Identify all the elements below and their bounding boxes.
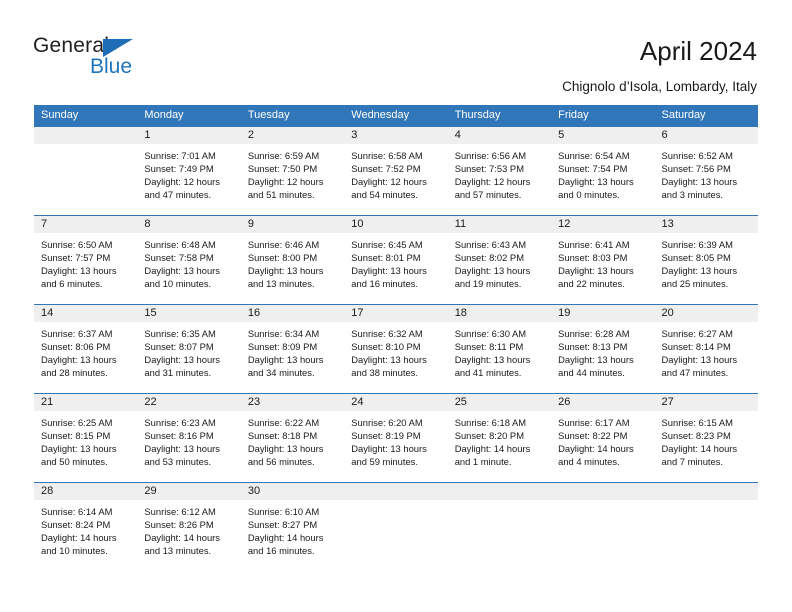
sunset-text: Sunset: 8:18 PM [248, 429, 338, 442]
daylight-text-line1: Daylight: 12 hours [144, 175, 234, 188]
sunset-text: Sunset: 8:13 PM [558, 340, 648, 353]
sunrise-text: Sunrise: 6:50 AM [41, 238, 131, 251]
sunset-text: Sunset: 7:56 PM [662, 162, 752, 175]
day-cell: 4 Sunrise: 6:56 AM Sunset: 7:53 PM Dayli… [448, 127, 551, 215]
daylight-text-line1: Daylight: 13 hours [144, 353, 234, 366]
daylight-text-line1: Daylight: 13 hours [662, 264, 752, 277]
calendar-grid: Sunday Monday Tuesday Wednesday Thursday… [34, 105, 758, 571]
calendar-week-row: 1 Sunrise: 7:01 AM Sunset: 7:49 PM Dayli… [34, 126, 758, 215]
weekday-header-thursday: Thursday [448, 105, 551, 126]
sunset-text: Sunset: 7:54 PM [558, 162, 648, 175]
day-cell: 11 Sunrise: 6:43 AM Sunset: 8:02 PM Dayl… [448, 216, 551, 304]
day-cell: 18 Sunrise: 6:30 AM Sunset: 8:11 PM Dayl… [448, 305, 551, 393]
day-number [655, 483, 758, 500]
daylight-text-line1: Daylight: 13 hours [248, 264, 338, 277]
day-cell: 12 Sunrise: 6:41 AM Sunset: 8:03 PM Dayl… [551, 216, 654, 304]
daylight-text-line2: and 57 minutes. [455, 188, 545, 201]
sunset-text: Sunset: 8:01 PM [351, 251, 441, 264]
daylight-text-line2: and 13 minutes. [144, 544, 234, 557]
sunset-text: Sunset: 8:09 PM [248, 340, 338, 353]
day-number: 5 [551, 127, 654, 144]
daylight-text-line2: and 16 minutes. [248, 544, 338, 557]
day-number: 21 [34, 394, 137, 411]
day-cell: 19 Sunrise: 6:28 AM Sunset: 8:13 PM Dayl… [551, 305, 654, 393]
day-details: Sunrise: 6:58 AM Sunset: 7:52 PM Dayligh… [344, 144, 447, 201]
day-details: Sunrise: 6:46 AM Sunset: 8:00 PM Dayligh… [241, 233, 344, 290]
day-number [344, 483, 447, 500]
daylight-text-line2: and 22 minutes. [558, 277, 648, 290]
daylight-text-line2: and 47 minutes. [144, 188, 234, 201]
sunset-text: Sunset: 8:14 PM [662, 340, 752, 353]
day-details: Sunrise: 6:14 AM Sunset: 8:24 PM Dayligh… [34, 500, 137, 557]
day-number: 15 [137, 305, 240, 322]
day-cell: 27 Sunrise: 6:15 AM Sunset: 8:23 PM Dayl… [655, 394, 758, 482]
day-cell [34, 127, 137, 215]
daylight-text-line1: Daylight: 13 hours [41, 353, 131, 366]
day-details: Sunrise: 6:37 AM Sunset: 8:06 PM Dayligh… [34, 322, 137, 379]
sunrise-text: Sunrise: 6:48 AM [144, 238, 234, 251]
day-details [34, 144, 137, 149]
daylight-text-line1: Daylight: 13 hours [144, 442, 234, 455]
daylight-text-line1: Daylight: 13 hours [662, 175, 752, 188]
daylight-text-line1: Daylight: 13 hours [558, 264, 648, 277]
daylight-text-line2: and 56 minutes. [248, 455, 338, 468]
sunset-text: Sunset: 7:49 PM [144, 162, 234, 175]
sunrise-text: Sunrise: 6:17 AM [558, 416, 648, 429]
page-header: General Blue April 2024 Chignolo d’Isola… [0, 0, 792, 100]
day-number: 14 [34, 305, 137, 322]
daylight-text-line2: and 53 minutes. [144, 455, 234, 468]
day-number: 17 [344, 305, 447, 322]
day-number: 12 [551, 216, 654, 233]
day-cell: 30 Sunrise: 6:10 AM Sunset: 8:27 PM Dayl… [241, 483, 344, 571]
sunrise-text: Sunrise: 7:01 AM [144, 149, 234, 162]
sunset-text: Sunset: 8:23 PM [662, 429, 752, 442]
daylight-text-line2: and 34 minutes. [248, 366, 338, 379]
sunset-text: Sunset: 8:22 PM [558, 429, 648, 442]
day-details: Sunrise: 6:12 AM Sunset: 8:26 PM Dayligh… [137, 500, 240, 557]
daylight-text-line2: and 19 minutes. [455, 277, 545, 290]
day-cell: 10 Sunrise: 6:45 AM Sunset: 8:01 PM Dayl… [344, 216, 447, 304]
sunset-text: Sunset: 8:11 PM [455, 340, 545, 353]
day-cell: 5 Sunrise: 6:54 AM Sunset: 7:54 PM Dayli… [551, 127, 654, 215]
day-number: 3 [344, 127, 447, 144]
sunset-text: Sunset: 7:57 PM [41, 251, 131, 264]
day-details: Sunrise: 6:27 AM Sunset: 8:14 PM Dayligh… [655, 322, 758, 379]
day-number: 20 [655, 305, 758, 322]
sunrise-text: Sunrise: 6:28 AM [558, 327, 648, 340]
sunrise-text: Sunrise: 6:46 AM [248, 238, 338, 251]
day-details: Sunrise: 6:52 AM Sunset: 7:56 PM Dayligh… [655, 144, 758, 201]
daylight-text-line2: and 38 minutes. [351, 366, 441, 379]
day-number: 9 [241, 216, 344, 233]
day-number: 25 [448, 394, 551, 411]
day-details: Sunrise: 6:48 AM Sunset: 7:58 PM Dayligh… [137, 233, 240, 290]
daylight-text-line2: and 25 minutes. [662, 277, 752, 290]
sunset-text: Sunset: 8:26 PM [144, 518, 234, 531]
daylight-text-line2: and 0 minutes. [558, 188, 648, 201]
weekday-header-saturday: Saturday [655, 105, 758, 126]
sunrise-text: Sunrise: 6:25 AM [41, 416, 131, 429]
daylight-text-line1: Daylight: 12 hours [455, 175, 545, 188]
day-cell: 7 Sunrise: 6:50 AM Sunset: 7:57 PM Dayli… [34, 216, 137, 304]
daylight-text-line1: Daylight: 13 hours [351, 264, 441, 277]
day-cell: 22 Sunrise: 6:23 AM Sunset: 8:16 PM Dayl… [137, 394, 240, 482]
daylight-text-line1: Daylight: 13 hours [144, 264, 234, 277]
sunrise-text: Sunrise: 6:58 AM [351, 149, 441, 162]
day-cell: 16 Sunrise: 6:34 AM Sunset: 8:09 PM Dayl… [241, 305, 344, 393]
day-number: 16 [241, 305, 344, 322]
day-cell: 21 Sunrise: 6:25 AM Sunset: 8:15 PM Dayl… [34, 394, 137, 482]
day-number: 30 [241, 483, 344, 500]
sunrise-text: Sunrise: 6:30 AM [455, 327, 545, 340]
day-cell [344, 483, 447, 571]
day-number: 24 [344, 394, 447, 411]
page-title: April 2024 [640, 36, 757, 67]
daylight-text-line1: Daylight: 13 hours [558, 175, 648, 188]
daylight-text-line2: and 51 minutes. [248, 188, 338, 201]
daylight-text-line2: and 3 minutes. [662, 188, 752, 201]
day-details: Sunrise: 6:43 AM Sunset: 8:02 PM Dayligh… [448, 233, 551, 290]
daylight-text-line1: Daylight: 13 hours [351, 442, 441, 455]
daylight-text-line1: Daylight: 14 hours [558, 442, 648, 455]
daylight-text-line1: Daylight: 13 hours [248, 442, 338, 455]
daylight-text-line1: Daylight: 14 hours [144, 531, 234, 544]
day-details: Sunrise: 6:22 AM Sunset: 8:18 PM Dayligh… [241, 411, 344, 468]
day-details: Sunrise: 6:20 AM Sunset: 8:19 PM Dayligh… [344, 411, 447, 468]
day-details: Sunrise: 6:34 AM Sunset: 8:09 PM Dayligh… [241, 322, 344, 379]
daylight-text-line2: and 31 minutes. [144, 366, 234, 379]
day-details: Sunrise: 6:54 AM Sunset: 7:54 PM Dayligh… [551, 144, 654, 201]
sunrise-text: Sunrise: 6:12 AM [144, 505, 234, 518]
sunset-text: Sunset: 8:00 PM [248, 251, 338, 264]
sunset-text: Sunset: 7:50 PM [248, 162, 338, 175]
daylight-text-line1: Daylight: 13 hours [455, 353, 545, 366]
day-details: Sunrise: 6:18 AM Sunset: 8:20 PM Dayligh… [448, 411, 551, 468]
day-details [655, 500, 758, 505]
daylight-text-line1: Daylight: 14 hours [455, 442, 545, 455]
daylight-text-line1: Daylight: 13 hours [248, 353, 338, 366]
day-details [448, 500, 551, 505]
day-number: 23 [241, 394, 344, 411]
day-number: 10 [344, 216, 447, 233]
daylight-text-line2: and 10 minutes. [144, 277, 234, 290]
day-number: 7 [34, 216, 137, 233]
daylight-text-line1: Daylight: 13 hours [351, 353, 441, 366]
sunset-text: Sunset: 8:16 PM [144, 429, 234, 442]
day-cell: 28 Sunrise: 6:14 AM Sunset: 8:24 PM Dayl… [34, 483, 137, 571]
sunset-text: Sunset: 8:02 PM [455, 251, 545, 264]
weekday-header-tuesday: Tuesday [241, 105, 344, 126]
day-cell: 9 Sunrise: 6:46 AM Sunset: 8:00 PM Dayli… [241, 216, 344, 304]
sunrise-text: Sunrise: 6:52 AM [662, 149, 752, 162]
sunset-text: Sunset: 8:06 PM [41, 340, 131, 353]
daylight-text-line1: Daylight: 13 hours [455, 264, 545, 277]
daylight-text-line2: and 6 minutes. [41, 277, 131, 290]
day-cell: 20 Sunrise: 6:27 AM Sunset: 8:14 PM Dayl… [655, 305, 758, 393]
calendar-week-row: 14 Sunrise: 6:37 AM Sunset: 8:06 PM Dayl… [34, 304, 758, 393]
day-cell: 17 Sunrise: 6:32 AM Sunset: 8:10 PM Dayl… [344, 305, 447, 393]
sunrise-text: Sunrise: 6:18 AM [455, 416, 545, 429]
sunrise-text: Sunrise: 6:43 AM [455, 238, 545, 251]
day-details: Sunrise: 6:10 AM Sunset: 8:27 PM Dayligh… [241, 500, 344, 557]
sunrise-text: Sunrise: 6:54 AM [558, 149, 648, 162]
weekday-header-monday: Monday [137, 105, 240, 126]
daylight-text-line2: and 47 minutes. [662, 366, 752, 379]
sunrise-text: Sunrise: 6:15 AM [662, 416, 752, 429]
sunset-text: Sunset: 8:03 PM [558, 251, 648, 264]
day-details: Sunrise: 7:01 AM Sunset: 7:49 PM Dayligh… [137, 144, 240, 201]
day-cell: 15 Sunrise: 6:35 AM Sunset: 8:07 PM Dayl… [137, 305, 240, 393]
day-number: 22 [137, 394, 240, 411]
day-details: Sunrise: 6:28 AM Sunset: 8:13 PM Dayligh… [551, 322, 654, 379]
sunrise-text: Sunrise: 6:27 AM [662, 327, 752, 340]
daylight-text-line2: and 50 minutes. [41, 455, 131, 468]
day-number [34, 127, 137, 144]
day-details: Sunrise: 6:39 AM Sunset: 8:05 PM Dayligh… [655, 233, 758, 290]
day-cell: 25 Sunrise: 6:18 AM Sunset: 8:20 PM Dayl… [448, 394, 551, 482]
sunrise-text: Sunrise: 6:22 AM [248, 416, 338, 429]
daylight-text-line1: Daylight: 13 hours [662, 353, 752, 366]
sunset-text: Sunset: 7:52 PM [351, 162, 441, 175]
day-details: Sunrise: 6:30 AM Sunset: 8:11 PM Dayligh… [448, 322, 551, 379]
day-number [551, 483, 654, 500]
daylight-text-line1: Daylight: 13 hours [41, 442, 131, 455]
daylight-text-line2: and 4 minutes. [558, 455, 648, 468]
sunset-text: Sunset: 8:19 PM [351, 429, 441, 442]
daylight-text-line1: Daylight: 14 hours [248, 531, 338, 544]
daylight-text-line2: and 16 minutes. [351, 277, 441, 290]
day-cell: 1 Sunrise: 7:01 AM Sunset: 7:49 PM Dayli… [137, 127, 240, 215]
page-subtitle-location: Chignolo d’Isola, Lombardy, Italy [562, 79, 757, 94]
day-cell: 14 Sunrise: 6:37 AM Sunset: 8:06 PM Dayl… [34, 305, 137, 393]
day-number: 4 [448, 127, 551, 144]
day-details [551, 500, 654, 505]
weekday-header-sunday: Sunday [34, 105, 137, 126]
calendar-page: General Blue April 2024 Chignolo d’Isola… [0, 0, 792, 612]
day-number: 27 [655, 394, 758, 411]
day-details: Sunrise: 6:41 AM Sunset: 8:03 PM Dayligh… [551, 233, 654, 290]
sunrise-text: Sunrise: 6:35 AM [144, 327, 234, 340]
day-details: Sunrise: 6:25 AM Sunset: 8:15 PM Dayligh… [34, 411, 137, 468]
sunrise-text: Sunrise: 6:14 AM [41, 505, 131, 518]
generalblue-logo: General Blue [33, 34, 193, 86]
daylight-text-line2: and 7 minutes. [662, 455, 752, 468]
day-number: 19 [551, 305, 654, 322]
sunset-text: Sunset: 8:07 PM [144, 340, 234, 353]
day-number: 18 [448, 305, 551, 322]
daylight-text-line1: Daylight: 12 hours [248, 175, 338, 188]
sunrise-text: Sunrise: 6:45 AM [351, 238, 441, 251]
day-details: Sunrise: 6:45 AM Sunset: 8:01 PM Dayligh… [344, 233, 447, 290]
sunset-text: Sunset: 8:05 PM [662, 251, 752, 264]
daylight-text-line2: and 41 minutes. [455, 366, 545, 379]
sunset-text: Sunset: 7:58 PM [144, 251, 234, 264]
daylight-text-line2: and 54 minutes. [351, 188, 441, 201]
day-details: Sunrise: 6:50 AM Sunset: 7:57 PM Dayligh… [34, 233, 137, 290]
daylight-text-line1: Daylight: 14 hours [662, 442, 752, 455]
daylight-text-line1: Daylight: 13 hours [558, 353, 648, 366]
day-details: Sunrise: 6:59 AM Sunset: 7:50 PM Dayligh… [241, 144, 344, 201]
day-details: Sunrise: 6:23 AM Sunset: 8:16 PM Dayligh… [137, 411, 240, 468]
sunrise-text: Sunrise: 6:34 AM [248, 327, 338, 340]
daylight-text-line2: and 13 minutes. [248, 277, 338, 290]
daylight-text-line2: and 1 minute. [455, 455, 545, 468]
sunset-text: Sunset: 8:15 PM [41, 429, 131, 442]
daylight-text-line2: and 44 minutes. [558, 366, 648, 379]
sunrise-text: Sunrise: 6:39 AM [662, 238, 752, 251]
day-cell: 8 Sunrise: 6:48 AM Sunset: 7:58 PM Dayli… [137, 216, 240, 304]
calendar-week-row: 7 Sunrise: 6:50 AM Sunset: 7:57 PM Dayli… [34, 215, 758, 304]
day-number: 28 [34, 483, 137, 500]
day-cell: 24 Sunrise: 6:20 AM Sunset: 8:19 PM Dayl… [344, 394, 447, 482]
daylight-text-line1: Daylight: 14 hours [41, 531, 131, 544]
sunrise-text: Sunrise: 6:32 AM [351, 327, 441, 340]
sunset-text: Sunset: 8:24 PM [41, 518, 131, 531]
calendar-week-row: 21 Sunrise: 6:25 AM Sunset: 8:15 PM Dayl… [34, 393, 758, 482]
calendar-week-row: 28 Sunrise: 6:14 AM Sunset: 8:24 PM Dayl… [34, 482, 758, 571]
day-details [344, 500, 447, 505]
sunrise-text: Sunrise: 6:10 AM [248, 505, 338, 518]
day-cell: 6 Sunrise: 6:52 AM Sunset: 7:56 PM Dayli… [655, 127, 758, 215]
sunset-text: Sunset: 8:20 PM [455, 429, 545, 442]
day-number: 26 [551, 394, 654, 411]
day-number: 6 [655, 127, 758, 144]
day-details: Sunrise: 6:17 AM Sunset: 8:22 PM Dayligh… [551, 411, 654, 468]
day-details: Sunrise: 6:56 AM Sunset: 7:53 PM Dayligh… [448, 144, 551, 201]
day-cell: 29 Sunrise: 6:12 AM Sunset: 8:26 PM Dayl… [137, 483, 240, 571]
day-cell [655, 483, 758, 571]
sunrise-text: Sunrise: 6:37 AM [41, 327, 131, 340]
sunrise-text: Sunrise: 6:20 AM [351, 416, 441, 429]
sunrise-text: Sunrise: 6:41 AM [558, 238, 648, 251]
day-cell: 13 Sunrise: 6:39 AM Sunset: 8:05 PM Dayl… [655, 216, 758, 304]
sunrise-text: Sunrise: 6:23 AM [144, 416, 234, 429]
sunset-text: Sunset: 7:53 PM [455, 162, 545, 175]
day-details: Sunrise: 6:15 AM Sunset: 8:23 PM Dayligh… [655, 411, 758, 468]
day-number: 2 [241, 127, 344, 144]
daylight-text-line1: Daylight: 13 hours [41, 264, 131, 277]
day-number: 11 [448, 216, 551, 233]
day-cell: 3 Sunrise: 6:58 AM Sunset: 7:52 PM Dayli… [344, 127, 447, 215]
weekday-header-row: Sunday Monday Tuesday Wednesday Thursday… [34, 105, 758, 126]
sunrise-text: Sunrise: 6:59 AM [248, 149, 338, 162]
day-number: 8 [137, 216, 240, 233]
logo-text-blue: Blue [90, 55, 132, 79]
day-cell: 26 Sunrise: 6:17 AM Sunset: 8:22 PM Dayl… [551, 394, 654, 482]
sunrise-text: Sunrise: 6:56 AM [455, 149, 545, 162]
day-cell [448, 483, 551, 571]
day-cell: 2 Sunrise: 6:59 AM Sunset: 7:50 PM Dayli… [241, 127, 344, 215]
day-details: Sunrise: 6:32 AM Sunset: 8:10 PM Dayligh… [344, 322, 447, 379]
day-cell: 23 Sunrise: 6:22 AM Sunset: 8:18 PM Dayl… [241, 394, 344, 482]
weekday-header-wednesday: Wednesday [344, 105, 447, 126]
day-number [448, 483, 551, 500]
day-number: 13 [655, 216, 758, 233]
day-cell [551, 483, 654, 571]
day-number: 29 [137, 483, 240, 500]
day-number: 1 [137, 127, 240, 144]
sunset-text: Sunset: 8:27 PM [248, 518, 338, 531]
weekday-header-friday: Friday [551, 105, 654, 126]
sunset-text: Sunset: 8:10 PM [351, 340, 441, 353]
daylight-text-line2: and 59 minutes. [351, 455, 441, 468]
daylight-text-line2: and 28 minutes. [41, 366, 131, 379]
daylight-text-line2: and 10 minutes. [41, 544, 131, 557]
day-details: Sunrise: 6:35 AM Sunset: 8:07 PM Dayligh… [137, 322, 240, 379]
daylight-text-line1: Daylight: 12 hours [351, 175, 441, 188]
